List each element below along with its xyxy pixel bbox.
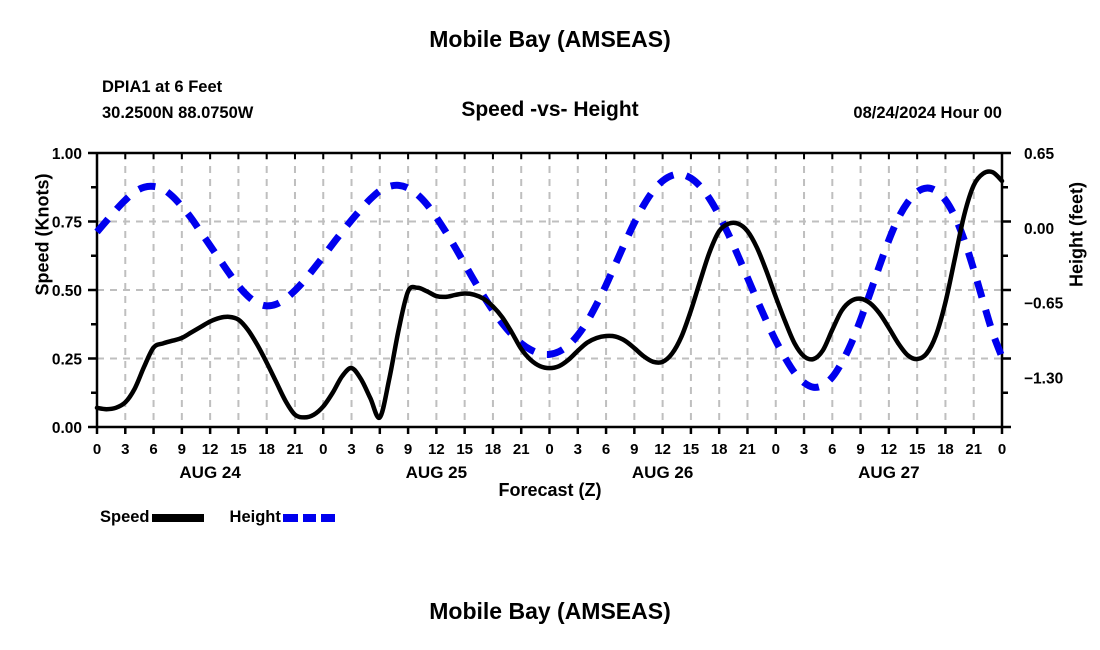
svg-text:9: 9 — [630, 441, 638, 458]
svg-text:3: 3 — [574, 441, 582, 458]
svg-text:0.65: 0.65 — [1024, 146, 1055, 163]
svg-text:21: 21 — [739, 441, 756, 458]
svg-text:9: 9 — [856, 441, 864, 458]
svg-text:0: 0 — [319, 441, 327, 458]
svg-text:15: 15 — [909, 441, 926, 458]
grid-lines — [97, 153, 1002, 427]
legend-item-speed: Speed — [100, 508, 230, 527]
page-title-bottom: Mobile Bay (AMSEAS) — [0, 598, 1100, 625]
svg-text:12: 12 — [654, 441, 671, 458]
x-axis-tick-labels: 0369121518210369121518210369121518210369… — [93, 441, 1006, 458]
svg-text:3: 3 — [121, 441, 129, 458]
svg-text:0.75: 0.75 — [52, 215, 83, 232]
svg-text:AUG 24: AUG 24 — [179, 463, 241, 482]
svg-text:18: 18 — [937, 441, 954, 458]
svg-text:15: 15 — [456, 441, 473, 458]
svg-text:AUG 27: AUG 27 — [858, 463, 919, 482]
svg-text:−1.30: −1.30 — [1024, 370, 1063, 387]
svg-text:0: 0 — [772, 441, 780, 458]
svg-text:6: 6 — [149, 441, 157, 458]
svg-text:0.50: 0.50 — [52, 283, 82, 300]
svg-text:AUG 26: AUG 26 — [632, 463, 693, 482]
y-axis-tick-labels-right: −1.30−0.650.000.65 — [1024, 146, 1064, 387]
legend-swatch-speed-icon — [152, 514, 204, 522]
svg-text:0.00: 0.00 — [52, 420, 82, 437]
svg-text:9: 9 — [404, 441, 412, 458]
svg-text:18: 18 — [258, 441, 275, 458]
svg-text:21: 21 — [513, 441, 530, 458]
svg-text:15: 15 — [230, 441, 247, 458]
svg-text:0.00: 0.00 — [1024, 221, 1054, 238]
svg-text:1.00: 1.00 — [52, 146, 82, 163]
legend-item-height: Height — [230, 508, 335, 527]
svg-text:18: 18 — [485, 441, 502, 458]
svg-text:0.25: 0.25 — [52, 352, 83, 369]
svg-text:21: 21 — [287, 441, 304, 458]
svg-text:18: 18 — [711, 441, 728, 458]
svg-text:6: 6 — [602, 441, 610, 458]
svg-text:6: 6 — [376, 441, 384, 458]
chart-legend: Speed Height — [100, 508, 335, 527]
svg-text:3: 3 — [347, 441, 355, 458]
svg-text:−0.65: −0.65 — [1024, 296, 1064, 313]
chart-plot: 0.000.250.500.751.00 −1.30−0.650.000.65 … — [0, 0, 1100, 650]
svg-text:0: 0 — [93, 441, 101, 458]
legend-swatch-height-icon — [283, 514, 335, 522]
svg-text:6: 6 — [828, 441, 836, 458]
svg-text:9: 9 — [178, 441, 186, 458]
svg-text:15: 15 — [683, 441, 700, 458]
svg-text:AUG 25: AUG 25 — [406, 463, 467, 482]
svg-text:21: 21 — [965, 441, 982, 458]
svg-text:12: 12 — [428, 441, 445, 458]
svg-text:0: 0 — [545, 441, 553, 458]
x-axis-day-labels: AUG 24AUG 25AUG 26AUG 27 — [179, 463, 919, 482]
chart-page: Mobile Bay (AMSEAS) DPIA1 at 6 Feet 30.2… — [0, 0, 1100, 650]
svg-text:12: 12 — [202, 441, 219, 458]
legend-label-speed: Speed — [100, 508, 152, 527]
svg-text:12: 12 — [881, 441, 898, 458]
y-axis-tick-labels-left: 0.000.250.500.751.00 — [52, 146, 83, 437]
legend-label-height: Height — [230, 508, 283, 527]
svg-text:3: 3 — [800, 441, 808, 458]
svg-text:0: 0 — [998, 441, 1006, 458]
